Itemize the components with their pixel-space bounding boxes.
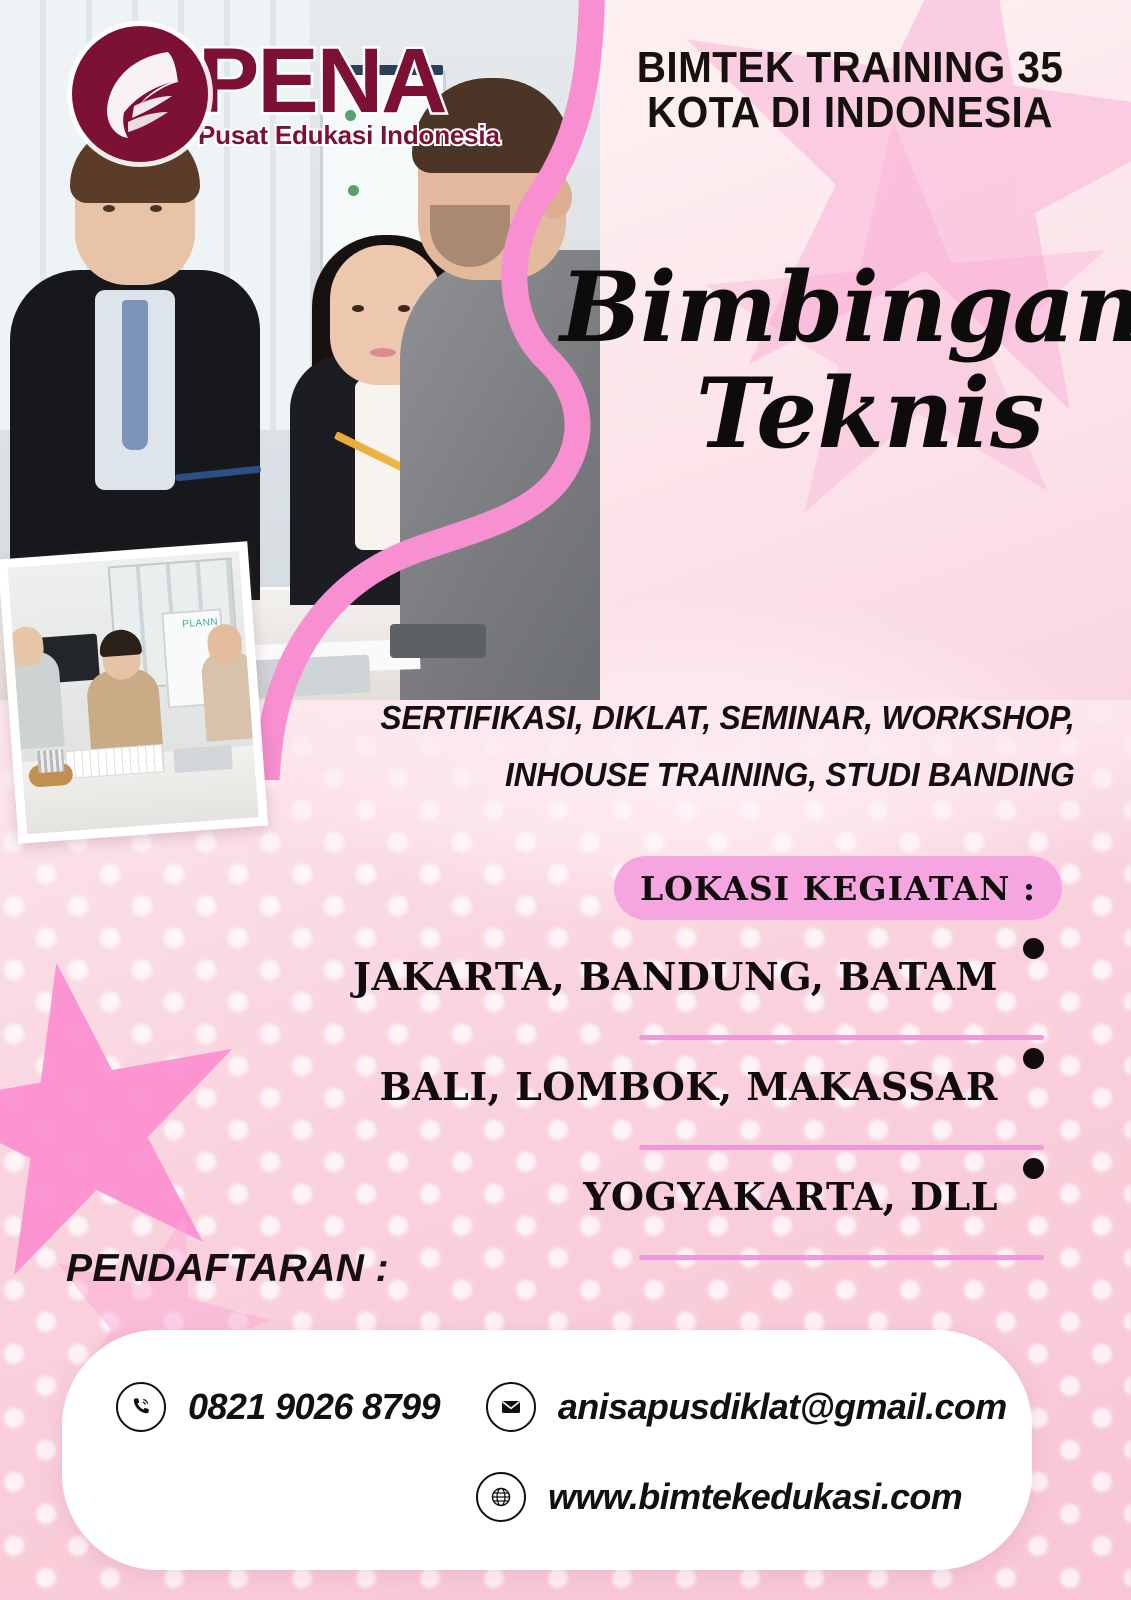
feather-glyph — [98, 46, 182, 142]
globe-glyph — [489, 1485, 513, 1509]
services-list: SERTIFIKASI, DIKLAT, SEMINAR, WORKSHOP, … — [335, 690, 1074, 804]
location-divider — [639, 1255, 1044, 1260]
headline-line-1: Bimbingan — [560, 262, 1120, 354]
poster-canvas: PLANN PENA Pusat Edukasi Indonesi — [0, 0, 1131, 1600]
header-line-2: KOTA DI INDONESIA — [620, 91, 1080, 136]
person-left-tie — [122, 300, 148, 450]
logo-wordmark: PENA — [198, 41, 500, 122]
contact-website-url: www.bimtekedukasi.com — [548, 1476, 962, 1518]
contact-website-item[interactable]: www.bimtekedukasi.com — [476, 1472, 962, 1522]
lokasi-kegiatan-badge: LOKASI KEGIATAN : — [614, 856, 1062, 920]
headline-script: Bimbingan Teknis — [560, 262, 1120, 460]
bullet-dot-icon — [1023, 1158, 1044, 1179]
inset-photo-scene: PLANN — [8, 551, 259, 834]
inset-person-left-body — [8, 650, 65, 750]
person-center-eye-2 — [398, 305, 410, 312]
contact-email-item[interactable]: anisapusdiklat@gmail.com — [486, 1382, 1007, 1432]
location-row: BALI, LOMBOK, MAKASSAR — [380, 1040, 1080, 1150]
contact-row-primary: 0821 9026 8799 anisapusdiklat@gmail.com — [116, 1382, 1053, 1432]
person-center-lips — [370, 348, 396, 357]
contact-row-secondary: www.bimtekedukasi.com — [476, 1472, 1008, 1522]
services-line-1: SERTIFIKASI, DIKLAT, SEMINAR, WORKSHOP, — [335, 690, 1074, 747]
logo-tagline: Pusat Edukasi Indonesia — [198, 124, 500, 147]
bullet-dot-icon — [1023, 1048, 1044, 1069]
person-left-eye-1 — [103, 205, 115, 212]
services-line-2: INHOUSE TRAINING, STUDI BANDING — [335, 747, 1074, 804]
location-row: JAKARTA, BANDUNG, BATAM — [380, 930, 1080, 1040]
phone-glyph — [129, 1395, 153, 1419]
poster-header-title: BIMTEK TRAINING 35 KOTA DI INDONESIA — [620, 46, 1080, 136]
contact-phone-number: 0821 9026 8799 — [188, 1386, 440, 1428]
location-list: JAKARTA, BANDUNG, BATAM BALI, LOMBOK, MA… — [380, 930, 1080, 1260]
envelope-glyph — [499, 1395, 523, 1419]
person-right-ear — [538, 175, 572, 219]
inset-photo: PLANN — [0, 541, 268, 844]
feather-quill-circle-icon — [72, 26, 208, 162]
envelope-icon — [486, 1382, 536, 1432]
contact-phone-item[interactable]: 0821 9026 8799 — [116, 1382, 440, 1432]
brand-logo: PENA Pusat Edukasi Indonesia — [72, 26, 500, 162]
inset-pen-holder — [37, 749, 65, 773]
person-center-eye-1 — [352, 305, 364, 312]
logo-text-block: PENA Pusat Edukasi Indonesia — [198, 41, 500, 147]
globe-icon — [476, 1472, 526, 1522]
inset-person-right-body — [200, 650, 258, 742]
calculator — [390, 624, 486, 658]
bullet-dot-icon — [1023, 938, 1044, 959]
inset-person-center-body — [85, 667, 163, 750]
contact-card: 0821 9026 8799 anisapusdiklat@gmail.com — [62, 1330, 1032, 1570]
location-text: BALI, LOMBOK, MAKASSAR — [380, 1064, 998, 1109]
inset-laptop — [173, 745, 233, 773]
location-text: JAKARTA, BANDUNG, BATAM — [353, 954, 998, 999]
contact-email-address: anisapusdiklat@gmail.com — [558, 1386, 1007, 1428]
board-dot-2 — [348, 185, 359, 196]
header-line-1: BIMTEK TRAINING 35 — [637, 43, 1064, 92]
location-text: YOGYAKARTA, DLL — [583, 1174, 998, 1219]
location-row: YOGYAKARTA, DLL — [380, 1150, 1080, 1260]
headline-line-2: Teknis — [620, 368, 1120, 460]
person-left-eye-2 — [150, 205, 162, 212]
phone-icon — [116, 1382, 166, 1432]
registration-label: PENDAFTARAN : — [66, 1247, 389, 1291]
